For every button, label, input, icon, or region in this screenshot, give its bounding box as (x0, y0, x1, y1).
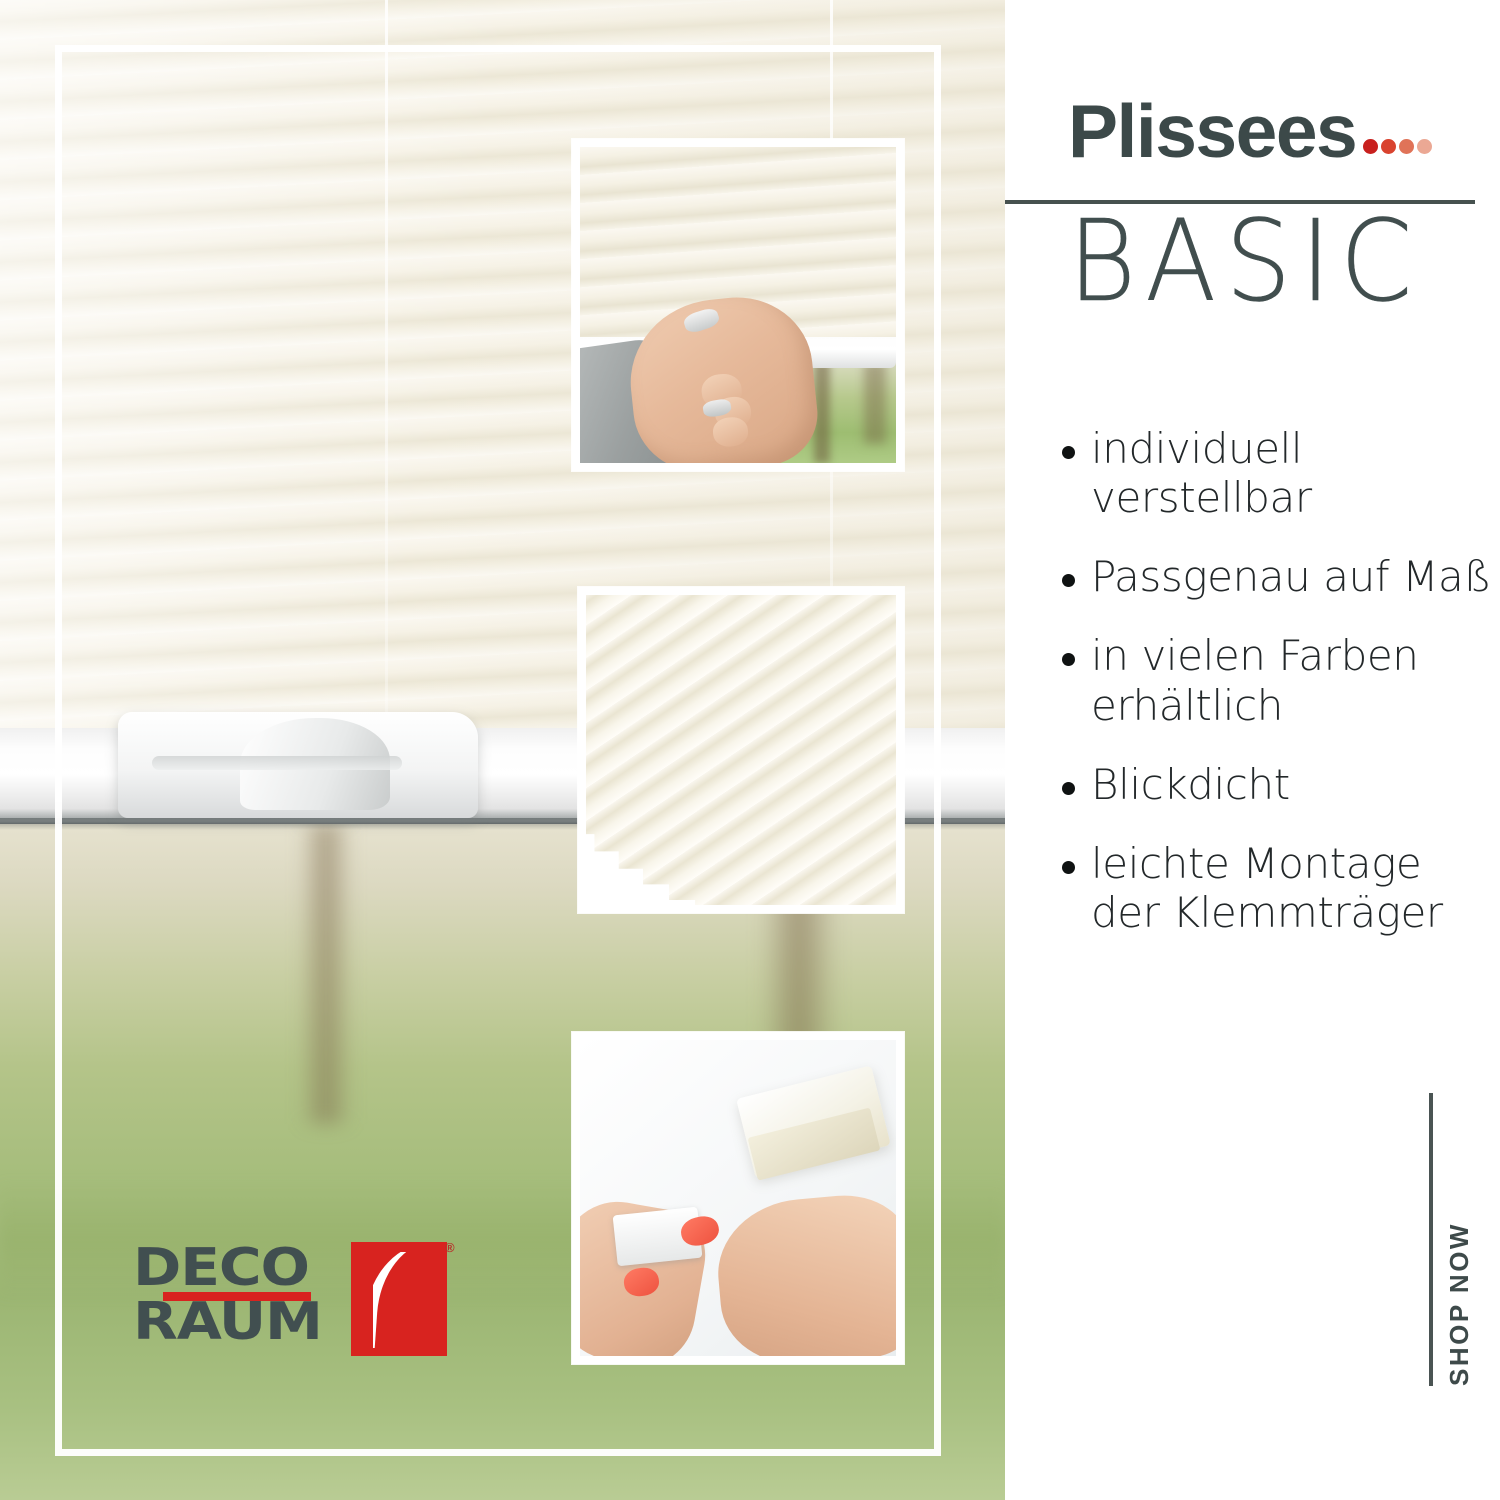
list-item: Passgenau auf Maß (1062, 552, 1492, 601)
list-item: individuell verstellbar (1062, 424, 1492, 522)
shop-now-cta[interactable]: SHOP NOW (1444, 1222, 1475, 1386)
bullet-icon (1062, 653, 1075, 666)
logo-text-raum: RAUM (133, 1296, 322, 1348)
headline-block: Plissees (1068, 96, 1480, 167)
bullet-icon (1062, 782, 1075, 795)
page-subtitle: BASIC (1068, 205, 1488, 317)
bullet-icon (1062, 861, 1075, 874)
page-title: Plissees (1068, 96, 1356, 167)
title-dots-decoration (1360, 139, 1432, 167)
bullet-icon (1062, 446, 1075, 459)
logo-swoosh-icon (373, 1252, 451, 1348)
title-dot-4 (1417, 139, 1432, 154)
info-panel: Plissees BASIC individuell verstellbar P… (1005, 0, 1500, 1500)
advertisement-banner: DECO RAUM ® Plissees BASIC individuell v… (0, 0, 1500, 1500)
feature-text: Passgenau auf Maß (1091, 552, 1491, 601)
title-dot-2 (1381, 139, 1396, 154)
bullet-icon (1062, 574, 1075, 587)
feature-text: leichte Montage der Klemmträger (1091, 839, 1492, 937)
shop-now-divider (1429, 1093, 1433, 1386)
photo-collage: DECO RAUM ® (0, 0, 1005, 1500)
feature-text: individuell verstellbar (1091, 424, 1492, 522)
title-dot-1 (1363, 139, 1378, 154)
deco-raum-logo: DECO RAUM ® (133, 1238, 455, 1360)
feature-text: in vielen Farben erhältlich (1091, 631, 1492, 729)
registered-trademark-icon: ® (445, 1240, 455, 1255)
logo-red-bar (163, 1292, 311, 1301)
panel1-finger (711, 416, 749, 448)
feature-list: individuell verstellbar Passgenau auf Ma… (1062, 424, 1492, 967)
feature-text: Blickdicht (1091, 760, 1290, 809)
logo-text-deco: DECO (133, 1242, 309, 1294)
photo-panel-clamp-assembly (572, 1032, 904, 1364)
panel1-tree (864, 362, 886, 444)
list-item: leichte Montage der Klemmträger (1062, 839, 1492, 937)
list-item: Blickdicht (1062, 760, 1492, 809)
panel2-pleated-fabric (586, 595, 896, 905)
list-item: in vielen Farben erhältlich (1062, 631, 1492, 729)
title-dot-3 (1399, 139, 1414, 154)
photo-panel-pleat-texture (578, 587, 904, 913)
photo-panel-hand-on-rail (572, 139, 904, 471)
